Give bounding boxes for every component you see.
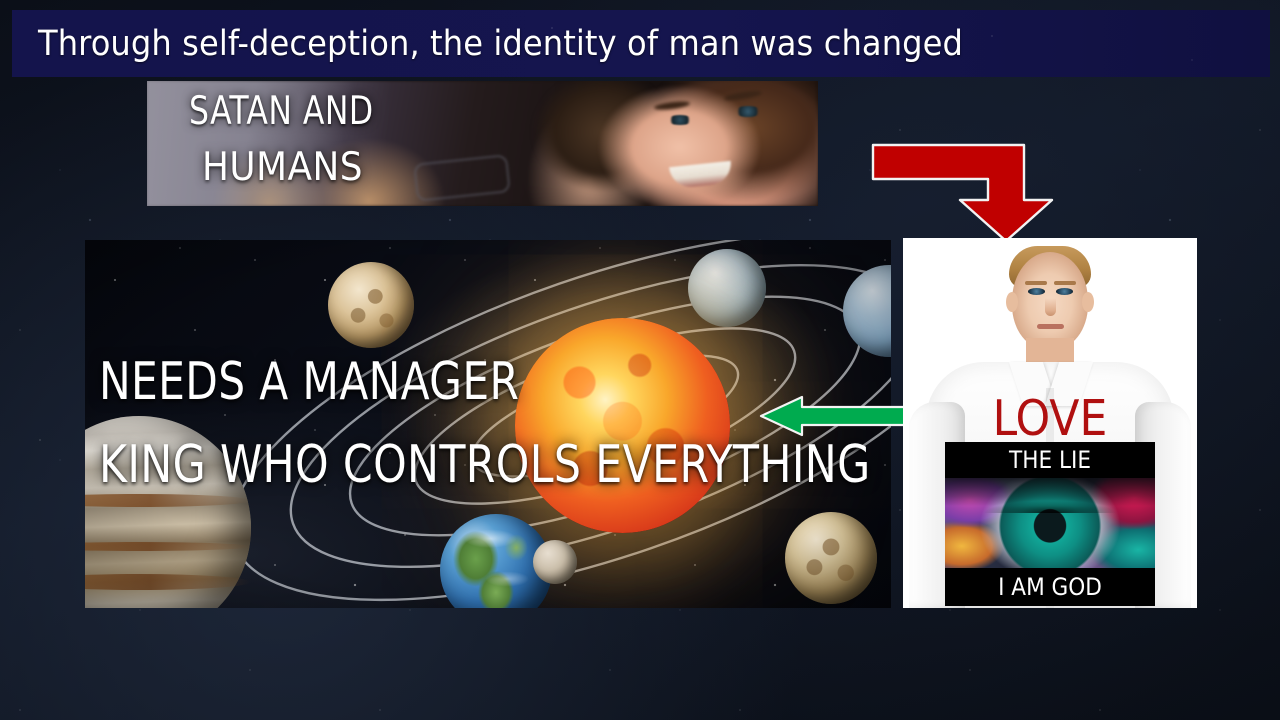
- red-arrow-svg: [866, 138, 1078, 248]
- space-caption-line-2: KING WHO CONTROLS EVERYTHING: [99, 435, 871, 495]
- the-lie-bar: THE LIE: [945, 442, 1155, 478]
- slide-title: Through self-deception, the identity of …: [38, 24, 963, 64]
- red-bent-down-arrow: [866, 138, 1078, 248]
- man-ear-left: [1006, 292, 1018, 312]
- love-heading: LOVE: [903, 394, 1197, 443]
- space-caption-line-1: NEEDS A MANAGER: [99, 352, 519, 412]
- man-ear-right: [1082, 292, 1094, 312]
- man-eyebrow-left: [1025, 281, 1047, 285]
- i-am-god-bar: I AM GOD: [945, 568, 1155, 606]
- slide-title-bar: Through self-deception, the identity of …: [12, 10, 1270, 77]
- green-arrow-svg: [758, 394, 922, 438]
- green-left-arrow: [758, 394, 922, 438]
- man-mouth: [1037, 324, 1064, 329]
- polygonal-eye-image: [945, 478, 1155, 570]
- man-eye-left: [1028, 288, 1045, 295]
- presentation-slide: Through self-deception, the identity of …: [0, 0, 1280, 720]
- man-eyebrow-right: [1054, 281, 1076, 285]
- man-eye-right: [1056, 288, 1073, 295]
- man-love-the-lie-photo: LOVE THE LIE I AM GOD: [903, 238, 1197, 608]
- photo-caption-line-2: HUMANS: [202, 145, 363, 190]
- man-nose: [1045, 298, 1056, 316]
- photo-caption-line-1: SATAN AND: [189, 89, 374, 134]
- satan-and-humans-photo: SATAN AND HUMANS: [147, 81, 818, 206]
- eye-facet-overlay: [945, 478, 1155, 570]
